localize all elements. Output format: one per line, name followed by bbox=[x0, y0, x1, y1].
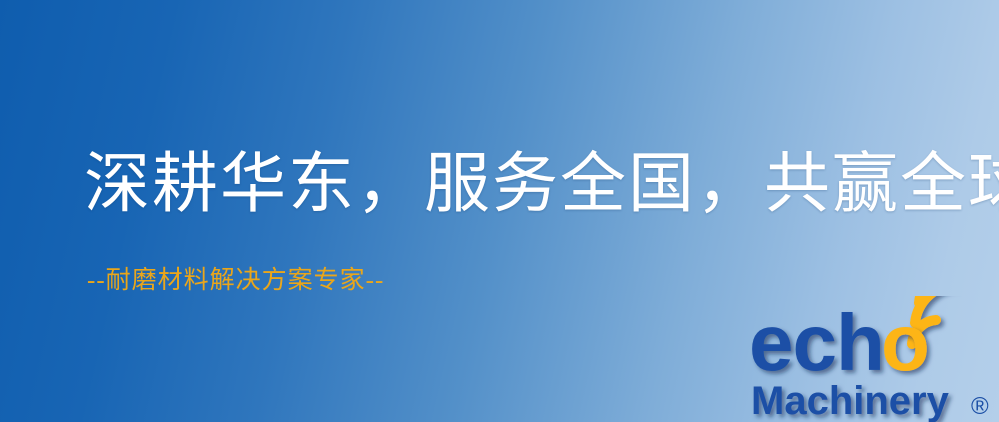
hero-banner: 深耕华东，服务全国，共赢全球 --耐磨材料解决方案专家-- ech o Mach… bbox=[0, 0, 999, 422]
echo-machinery-logo-graphic: ech o Machinery ® bbox=[749, 296, 999, 422]
logo-wordmark-blue: ech bbox=[749, 298, 884, 387]
logo-subbrand: Machinery bbox=[751, 379, 950, 422]
logo-wordmark-gold: o bbox=[881, 298, 930, 387]
registered-trademark-icon: ® bbox=[971, 393, 989, 420]
tagline: --耐磨材料解决方案专家-- bbox=[87, 268, 384, 293]
company-logo[interactable]: ech o Machinery ® bbox=[749, 296, 999, 422]
page-title: 深耕华东，服务全国，共赢全球 bbox=[84, 152, 999, 218]
